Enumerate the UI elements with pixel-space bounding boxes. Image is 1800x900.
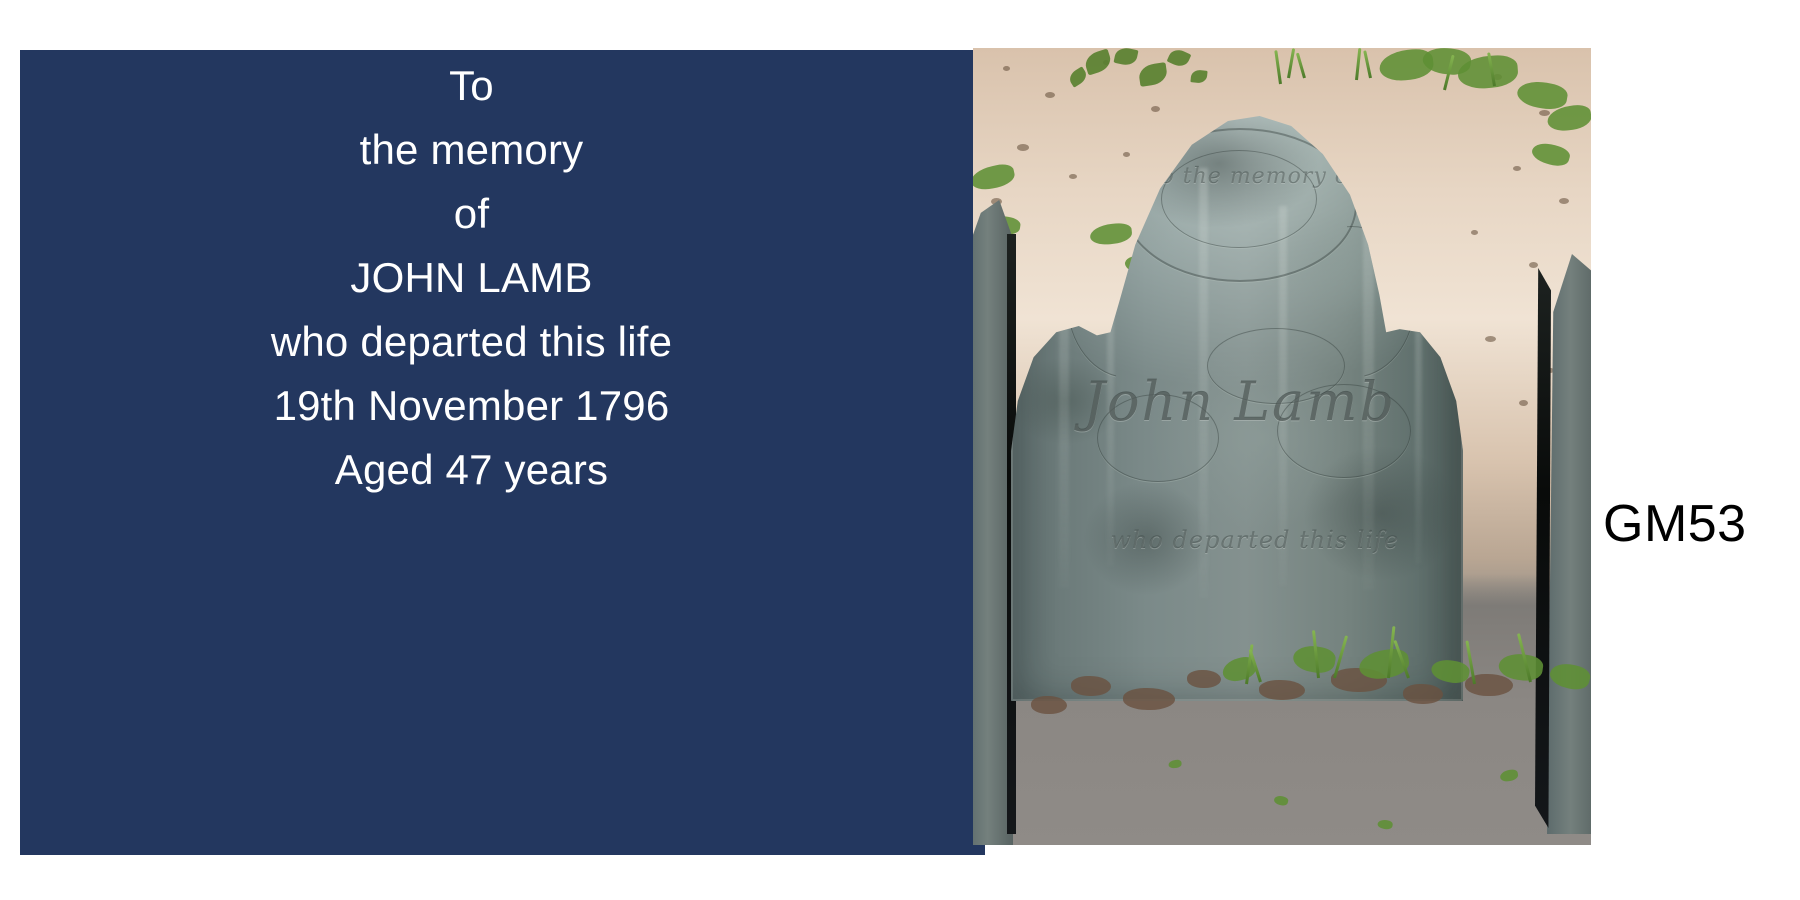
neighbour-stone-right bbox=[1547, 254, 1591, 834]
slide-canvas: To the memory of JOHN LAMB who departed … bbox=[0, 0, 1800, 900]
carved-swirl-lower-left bbox=[1097, 394, 1219, 482]
inscription-line-3: of bbox=[20, 182, 923, 246]
carved-arc-inner bbox=[1161, 150, 1317, 248]
carved-sub-line: who departed this life bbox=[1110, 526, 1399, 554]
inscription-line-5: who departed this life bbox=[20, 310, 923, 374]
inscription-line-6: 19th November 1796 bbox=[20, 374, 923, 438]
inscription-panel: To the memory of JOHN LAMB who departed … bbox=[20, 50, 985, 855]
inscription-line-2: the memory bbox=[20, 118, 923, 182]
carved-swirl-lower-right bbox=[1277, 384, 1411, 478]
inscription-line-1: To bbox=[20, 54, 923, 118]
gravestone-photograph: To the memory of John Lamb who departed … bbox=[973, 48, 1591, 845]
reference-label: GM53 bbox=[1603, 494, 1747, 554]
inscription-line-4: JOHN LAMB bbox=[20, 246, 923, 310]
inscription-text-block: To the memory of JOHN LAMB who departed … bbox=[20, 54, 985, 502]
inscription-line-7: Aged 47 years bbox=[20, 438, 923, 502]
